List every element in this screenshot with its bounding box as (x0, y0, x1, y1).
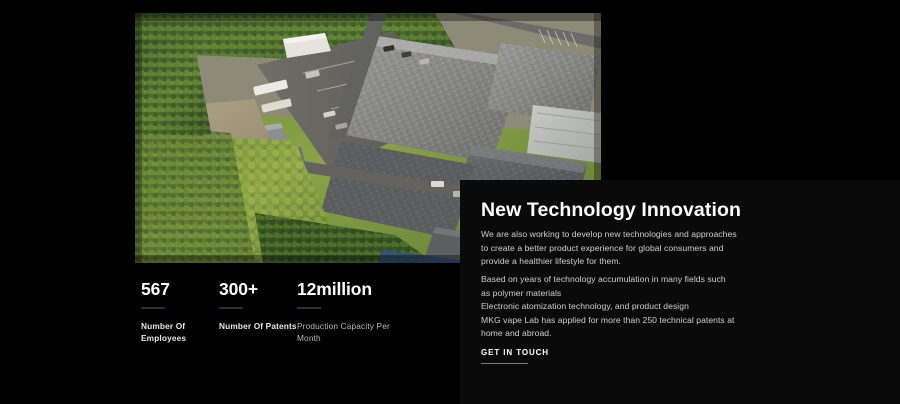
stat-value: 567 (141, 279, 219, 299)
get-in-touch-label: GET IN TOUCH (481, 348, 549, 357)
stat-label: Number Of Patents (219, 320, 297, 333)
stat-value: 12million (297, 279, 407, 299)
patents-paragraph: Based on years of technology accumulatio… (481, 273, 737, 341)
stat-label: Production Capacity Per Month (297, 320, 407, 345)
get-in-touch-button[interactable]: GET IN TOUCH (481, 348, 549, 364)
intro-paragraph: We are also working to develop new techn… (481, 228, 737, 269)
stat-patents: 300+ Number Of Patents (219, 279, 297, 345)
stat-divider (219, 307, 243, 309)
stats-row: 567 Number Of Employees 300+ Number Of P… (141, 279, 407, 345)
stat-divider (297, 307, 321, 309)
content-overlay-panel: New Technology Innovation We are also wo… (460, 180, 900, 404)
stat-label: Number Of Employees (141, 320, 219, 345)
stat-employees: 567 Number Of Employees (141, 279, 219, 345)
stat-value: 300+ (219, 279, 297, 299)
stat-production-capacity: 12million Production Capacity Per Month (297, 279, 407, 345)
get-in-touch-underline (481, 363, 528, 364)
stat-divider (141, 307, 165, 309)
about-company-section: New Technology Innovation We are also wo… (0, 0, 900, 404)
section-heading: New Technology Innovation (481, 199, 741, 222)
